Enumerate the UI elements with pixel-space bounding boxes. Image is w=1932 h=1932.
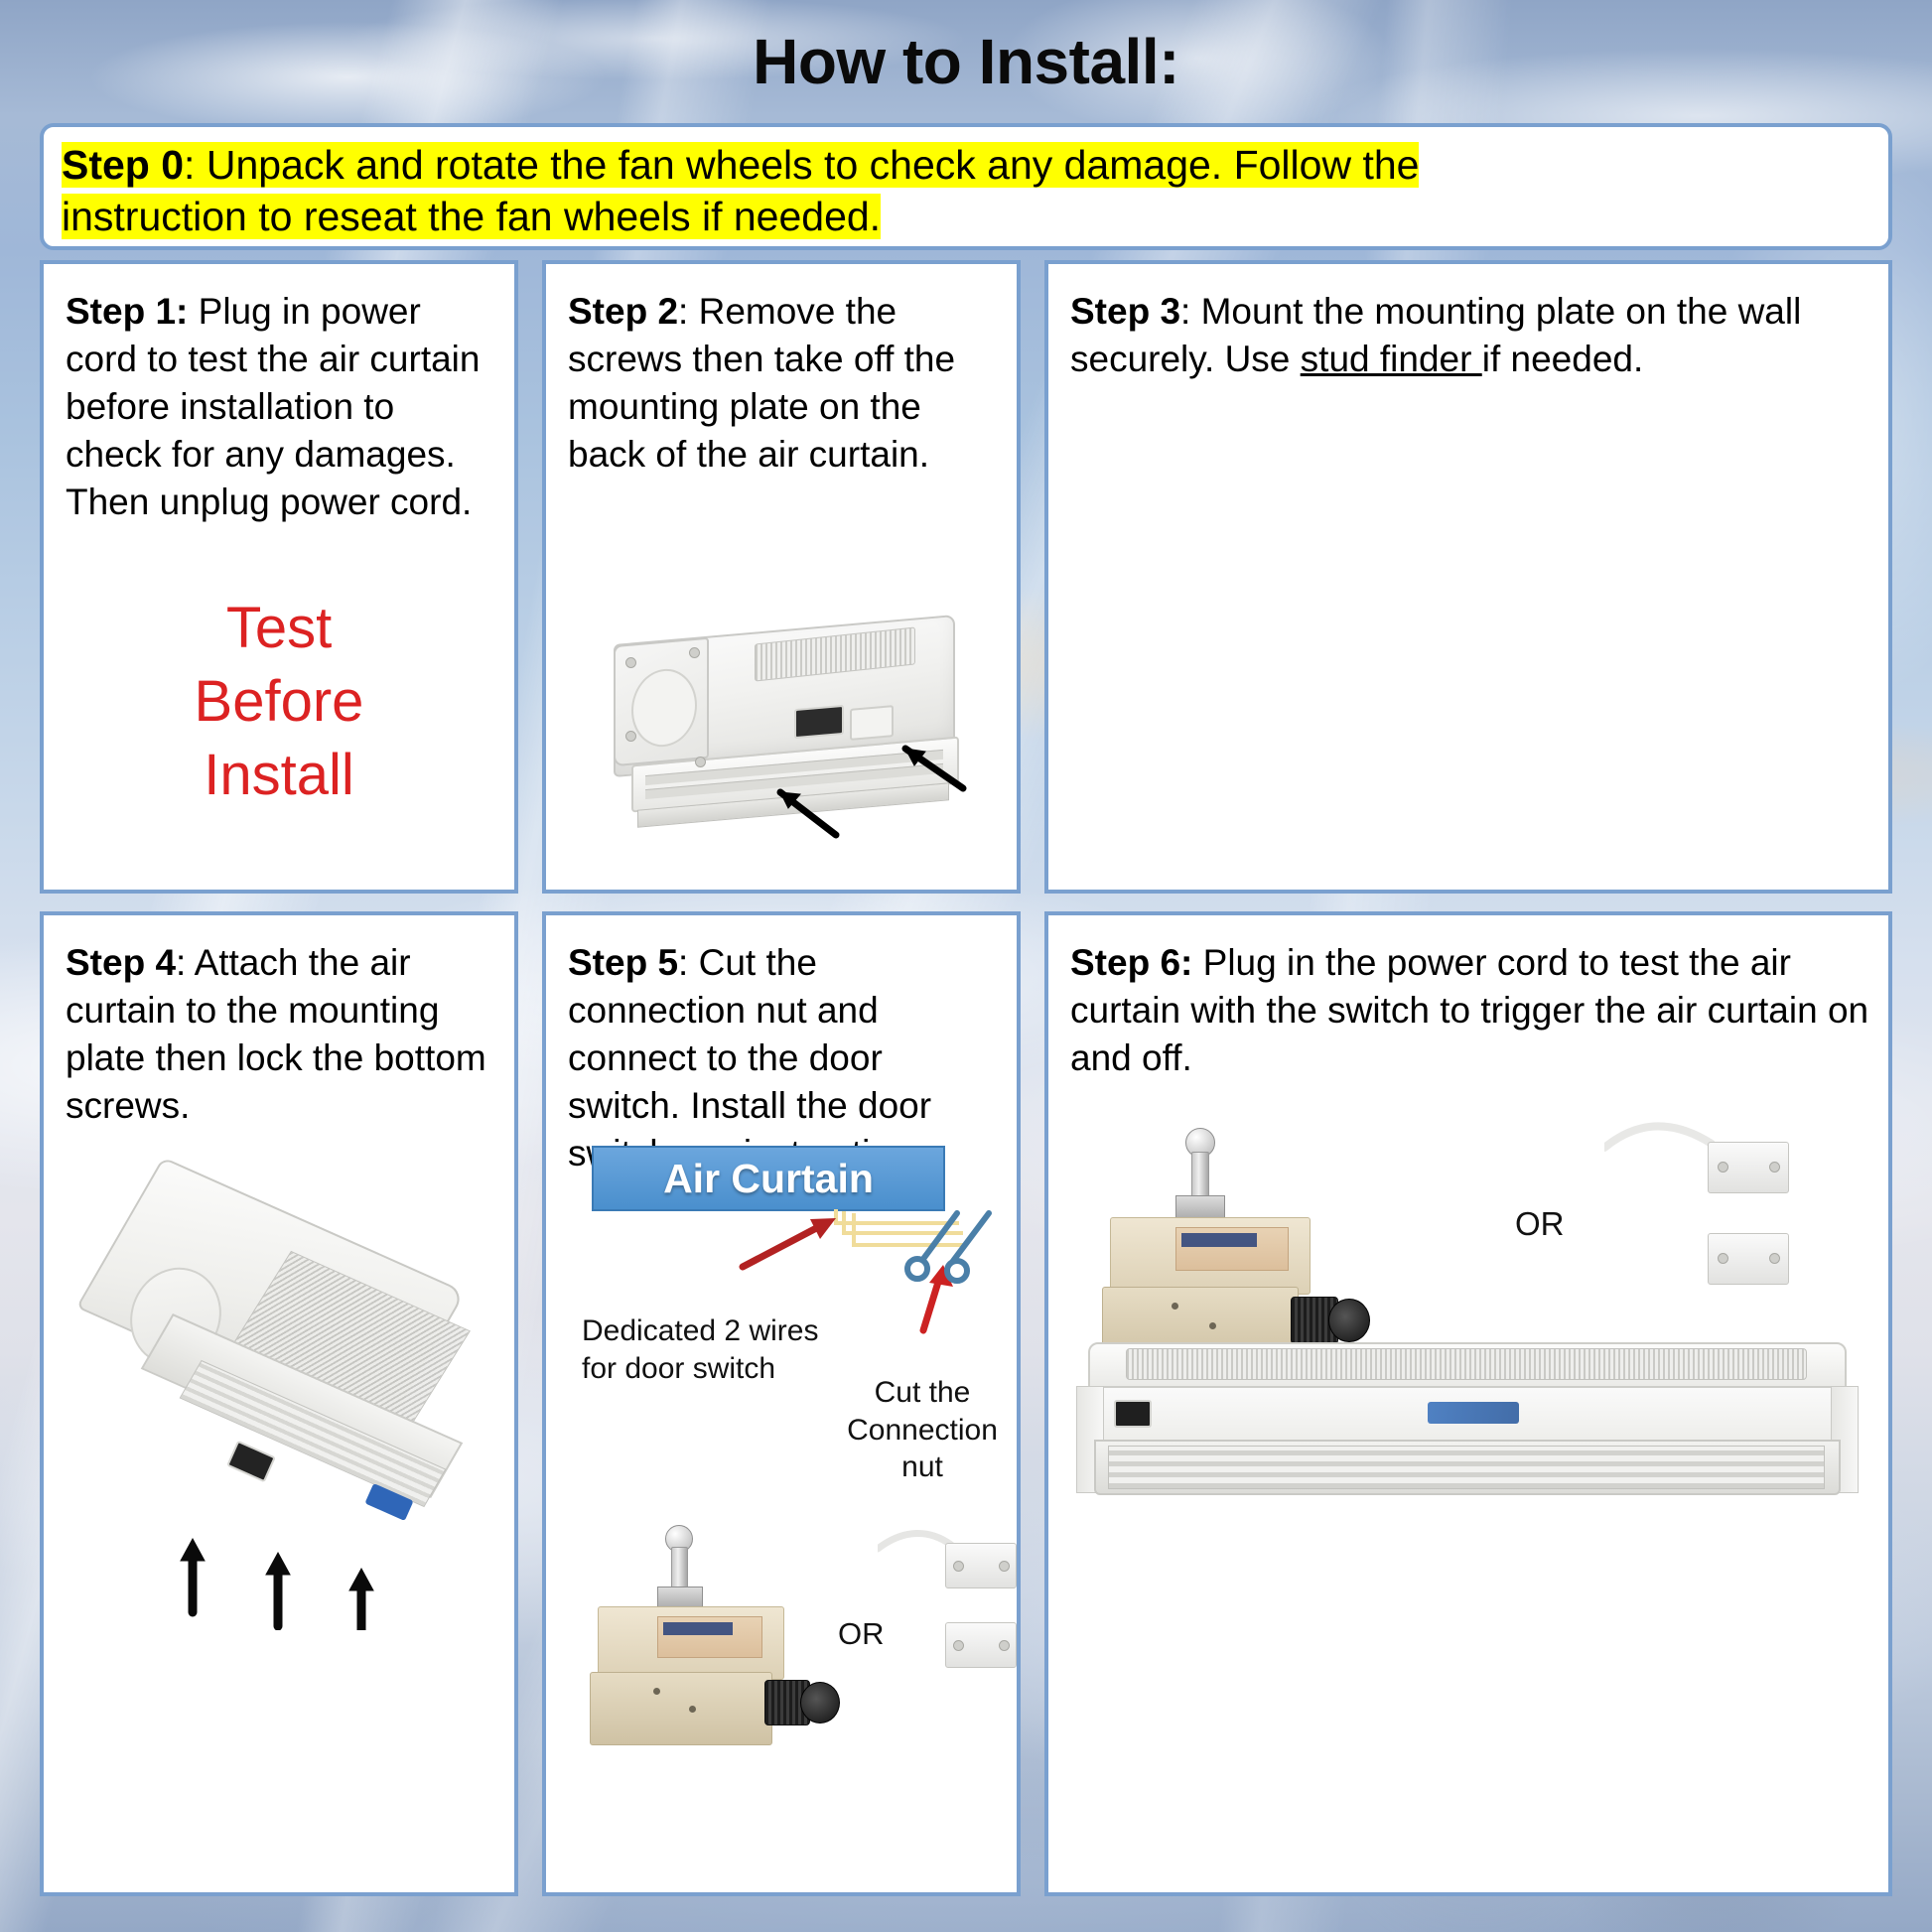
or-label-step6: OR <box>1515 1205 1565 1243</box>
air-curtain-front-photo <box>1074 1332 1859 1521</box>
dedicated-wires-line1: Dedicated 2 wires <box>582 1312 818 1350</box>
cut-the-line1: Cut the <box>828 1374 1017 1412</box>
step3-body-after: if needed. <box>1482 339 1644 379</box>
step3-bold-prefix: Step 3 <box>1070 291 1180 332</box>
cut-connection-nut-label: Cut the Connection nut <box>828 1374 1017 1486</box>
step3-card: Step 3: Mount the mounting plate on the … <box>1044 260 1892 894</box>
air-curtain-intake-mesh <box>1126 1348 1807 1380</box>
step0-rest-line1: : Unpack and rotate the fan wheels to ch… <box>184 142 1419 188</box>
dedicated-wires-line2: for door switch <box>582 1350 818 1388</box>
bottom-screw-arrows <box>83 1164 500 1630</box>
screw-pointer-arrows <box>586 612 983 840</box>
step0-highlight-line1: Step 0: Unpack and rotate the fan wheels… <box>62 142 1419 188</box>
air-curtain-banner-label: Air Curtain <box>663 1156 874 1202</box>
step5-bold-prefix: Step 5 <box>568 942 678 983</box>
air-curtain-banner: Air Curtain <box>592 1146 945 1211</box>
step4-bold-prefix: Step 4 <box>66 942 176 983</box>
air-curtain-rear-photo <box>586 612 983 840</box>
step2-bold-prefix: Step 2 <box>568 291 678 332</box>
step4-card: Step 4: Attach the air curtain to the mo… <box>40 911 518 1896</box>
air-curtain-angled-photo <box>83 1164 500 1630</box>
dedicated-wires-label: Dedicated 2 wires for door switch <box>582 1312 818 1387</box>
page-title: How to Install: <box>0 14 1932 109</box>
test-before-install-callout: Test Before Install <box>44 592 514 813</box>
step1-bold-prefix: Step 1: <box>66 291 188 332</box>
step0-bold-prefix: Step 0 <box>62 142 184 188</box>
step3-text: Step 3: Mount the mounting plate on the … <box>1048 264 1888 383</box>
step5-card: Step 5: Cut the connection nut and conne… <box>542 911 1021 1896</box>
infographic-page: How to Install: Step 0: Unpack and rotat… <box>0 0 1932 1932</box>
step0-text: Step 0: Unpack and rotate the fan wheels… <box>62 139 1870 243</box>
rocker-switch <box>1114 1400 1152 1428</box>
step1-card: Step 1: Plug in power cord to test the a… <box>40 260 518 894</box>
connection-nut-line2: Connection nut <box>828 1412 1017 1486</box>
step2-card: Step 2: Remove the screws then take off … <box>542 260 1021 894</box>
step2-text: Step 2: Remove the screws then take off … <box>546 264 1017 479</box>
callout-line-install: Install <box>44 739 514 812</box>
step6-text: Step 6: Plug in the power cord to test t… <box>1048 915 1888 1082</box>
step0-callout-box: Step 0: Unpack and rotate the fan wheels… <box>40 123 1892 250</box>
step5-text: Step 5: Cut the connection nut and conne… <box>546 915 1017 1177</box>
brand-logo <box>1428 1402 1519 1424</box>
callout-line-test: Test <box>44 592 514 665</box>
magnetic-sensor-photo <box>880 1527 1019 1765</box>
step1-text: Step 1: Plug in power cord to test the a… <box>44 264 514 526</box>
step0-highlight-line2: instruction to reseat the fan wheels if … <box>62 194 881 239</box>
stud-finder-underlined: stud finder <box>1301 339 1482 379</box>
step6-card: Step 6: Plug in the power cord to test t… <box>1044 911 1892 1896</box>
red-arrow-to-wires <box>743 1218 836 1267</box>
discharge-vanes <box>1108 1446 1825 1489</box>
magnetic-sensor-photo <box>1610 1124 1819 1362</box>
step6-bold-prefix: Step 6: <box>1070 942 1192 983</box>
callout-line-before: Before <box>44 665 514 739</box>
step4-text: Step 4: Attach the air curtain to the mo… <box>44 915 514 1130</box>
limit-switch-photo <box>580 1521 818 1769</box>
